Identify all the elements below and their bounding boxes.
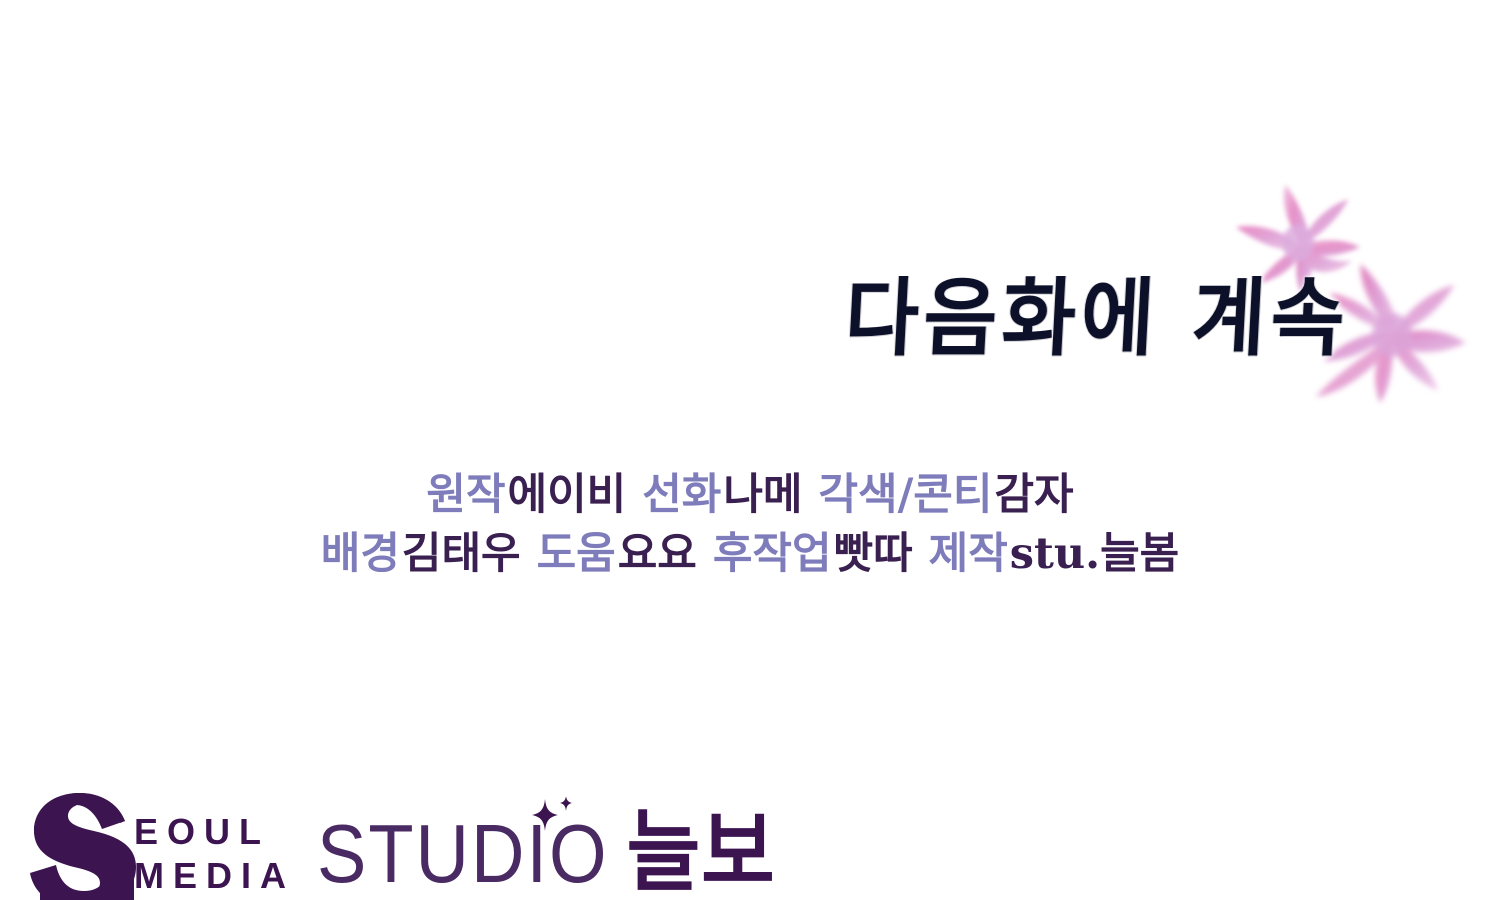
credit-role: 원작 xyxy=(426,470,505,520)
seoul-media-logo: EOUL MEDIA xyxy=(30,795,295,900)
credit-role: 선화 xyxy=(642,470,721,520)
seoul-word: EOUL xyxy=(134,810,295,854)
credit-role: 도움 xyxy=(537,529,616,579)
flower-decoration-layer xyxy=(0,0,1500,900)
publisher-logo-lockup: EOUL MEDIA STUDIO 늘보 xyxy=(30,795,776,900)
seoul-s-mark-icon xyxy=(30,791,138,900)
credit-line: 배경김태우도움요요후작업빳따제작stu.늘봄 xyxy=(0,525,1500,584)
credit-person: 감자 xyxy=(994,470,1073,520)
credit-role: 배경 xyxy=(321,529,400,579)
credit-person: 나메 xyxy=(723,470,802,520)
credits-block: 원작에이비선화나메각색/콘티감자 배경김태우도움요요후작업빳따제작stu.늘봄 xyxy=(0,466,1500,584)
credit-person: 요요 xyxy=(618,529,697,579)
credit-person: stu.늘봄 xyxy=(1010,529,1179,579)
media-word: MEDIA xyxy=(134,854,295,898)
studio-neulbo-logo: STUDIO 늘보 xyxy=(317,795,776,899)
seoul-media-wordmark: EOUL MEDIA xyxy=(134,802,295,898)
neulbo-word: 늘보 xyxy=(627,807,776,899)
credit-person: 빳따 xyxy=(834,529,913,579)
credit-role: 각색/콘티 xyxy=(818,470,992,520)
credit-role: 제작 xyxy=(929,529,1008,579)
webtoon-end-card: 다음화에 계속 원작에이비선화나메각색/콘티감자 배경김태우도움요요후작업빳따제… xyxy=(0,0,1500,900)
title-text: 다음화에 계속 xyxy=(843,273,1428,362)
credit-person: 에이비 xyxy=(508,470,627,520)
to-be-continued-title: 다음화에 계속 xyxy=(845,276,1425,396)
credit-role: 후작업 xyxy=(713,529,832,579)
sparkle-star-icon xyxy=(529,797,575,837)
credit-line: 원작에이비선화나메각색/콘티감자 xyxy=(0,466,1500,525)
credit-person: 김태우 xyxy=(402,529,521,579)
